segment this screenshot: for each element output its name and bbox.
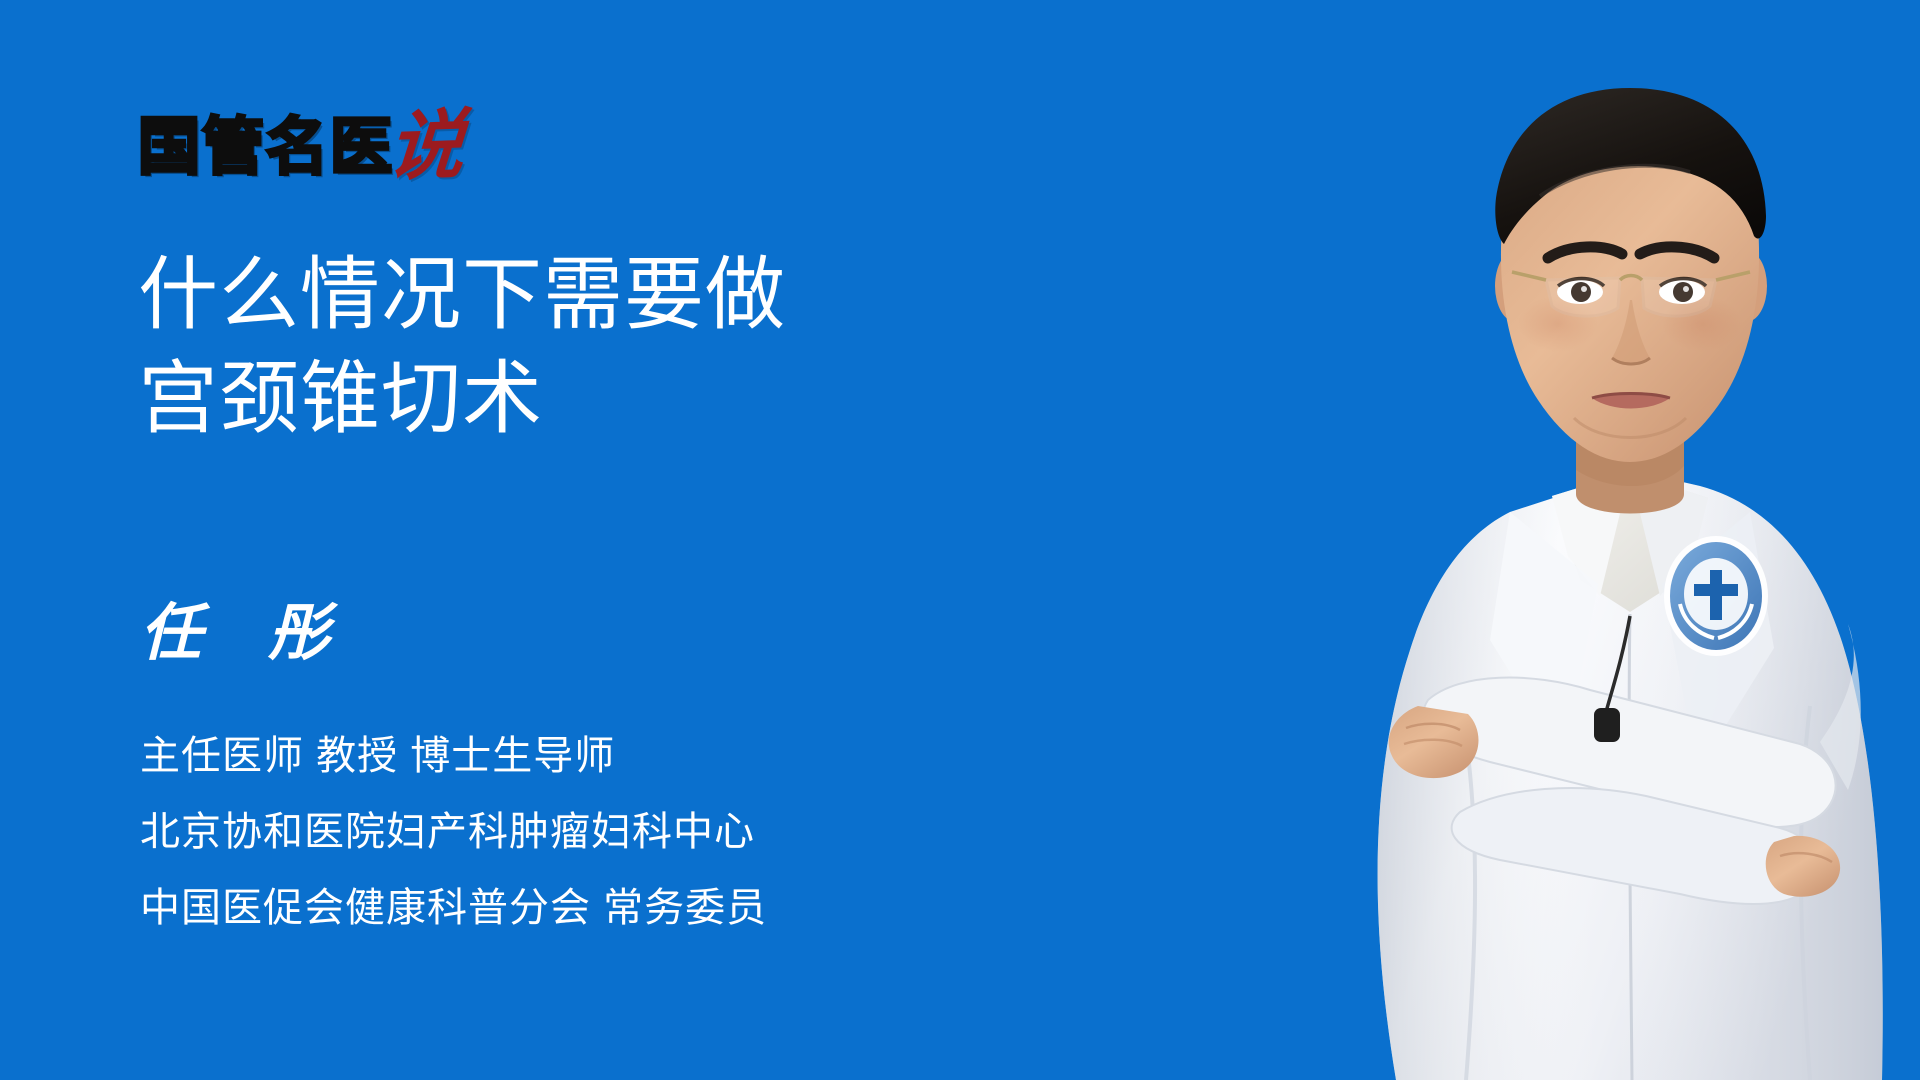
program-logo-main-text: 国管名医	[138, 116, 394, 178]
credential-line-2: 北京协和医院妇产科肿瘤妇科中心	[140, 794, 1040, 870]
program-logo-accent-text: 说	[385, 107, 467, 186]
title-card: 国管名医 说 什么情况下需要做 宫颈锥切术 任 彤 主任医师 教授 博士生导师 …	[0, 0, 1920, 1080]
credential-line-1: 主任医师 教授 博士生导师	[140, 718, 1040, 794]
program-logo: 国管名医 说	[138, 100, 464, 178]
headline-line-1: 什么情况下需要做	[138, 243, 1018, 347]
headline: 什么情况下需要做 宫颈锥切术	[138, 243, 1018, 451]
presenter-name: 任 彤	[140, 582, 352, 672]
headline-line-2: 宫颈锥切术	[138, 347, 1018, 451]
presenter-credentials: 主任医师 教授 博士生导师 北京协和医院妇产科肿瘤妇科中心 中国医促会健康科普分…	[140, 718, 1040, 946]
credential-line-3: 中国医促会健康科普分会 常务委员	[140, 870, 1040, 946]
